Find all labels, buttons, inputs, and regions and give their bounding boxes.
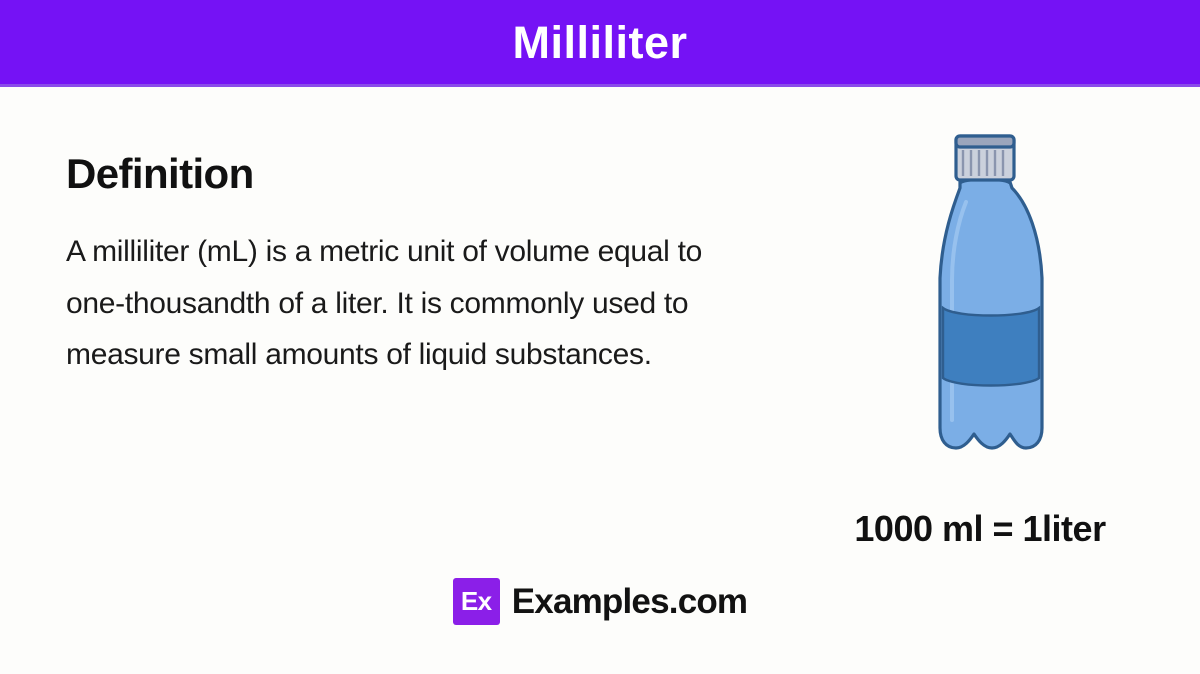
definition-body-text: A milliliter (mL) is a metric unit of vo… [66,226,706,381]
examples-logo-text: Examples.com [512,582,748,622]
volume-equation-text: 1000 ml = 1liter [780,508,1180,550]
infographic-page: Milliliter Definition A milliliter (mL) … [0,0,1200,674]
water-bottle-icon [900,110,1070,490]
bottle-cap-rim [956,136,1014,147]
definition-heading: Definition [66,152,716,196]
header-bar: Milliliter [0,0,1200,84]
water-bottle-illustration [900,110,1070,490]
examples-logo-badge: Ex [453,578,500,625]
bottle-label-band [943,308,1039,386]
illustration-section: 1000 ml = 1liter [780,110,1180,570]
definition-section: Definition A milliliter (mL) is a metric… [66,152,716,381]
header-underline [0,84,1200,87]
bottle-body-shape [940,175,1042,449]
brand-footer: Ex Examples.com [0,578,1200,625]
page-title: Milliliter [512,20,687,65]
